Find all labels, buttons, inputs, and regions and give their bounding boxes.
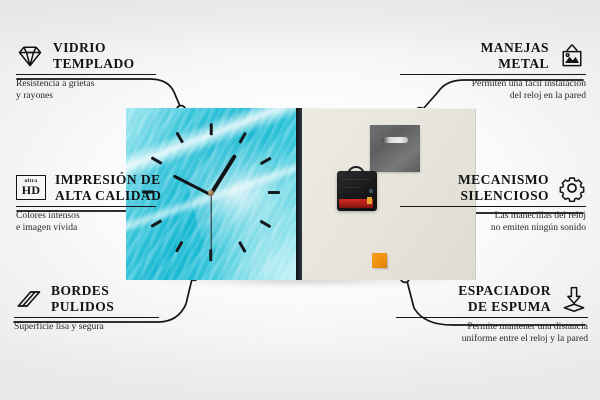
wall-mount-frame-icon bbox=[558, 42, 586, 70]
hanger-slot bbox=[382, 137, 408, 143]
clock-center-cap bbox=[208, 190, 214, 196]
callout-rule bbox=[16, 74, 156, 75]
callout-description: Las manecillas del reloj no emiten ningú… bbox=[400, 210, 586, 233]
callout-espaciador-de-espuma: ESPACIADOR DE ESPUMA Permite mantener un… bbox=[396, 283, 588, 345]
metal-hanger-plate bbox=[370, 125, 420, 172]
battery-positive-tip bbox=[367, 197, 372, 204]
callout-rule bbox=[14, 317, 159, 318]
callout-description: Colores intensos e imagen vívida bbox=[16, 210, 176, 233]
callout-rule bbox=[16, 206, 156, 207]
ultra-hd-big-label: HD bbox=[22, 184, 40, 196]
foam-spacer-icon bbox=[560, 285, 588, 313]
diamond-icon bbox=[16, 42, 44, 70]
infographic-stage: VIDRIO TEMPLADO Resistencia a grietas y … bbox=[0, 0, 600, 400]
callout-title: MANEJAS METAL bbox=[481, 40, 549, 71]
callout-mecanismo-silencioso: MECANISMO SILENCIOSO Las manecillas del … bbox=[400, 172, 586, 234]
callout-impresion-alta-calidad: ultra HD IMPRESIÓN DE ALTA CALIDAD Color… bbox=[16, 172, 176, 234]
callout-rule bbox=[396, 317, 588, 318]
mechanism-terminal bbox=[369, 189, 373, 193]
ultra-hd-icon: ultra HD bbox=[16, 175, 46, 200]
callout-title: VIDRIO TEMPLADO bbox=[53, 40, 135, 71]
mechanism-hanging-loop bbox=[347, 166, 365, 175]
callout-bordes-pulidos: BORDES PULIDOS Superficie lisa y segura bbox=[14, 283, 174, 333]
callout-vidrio-templado: VIDRIO TEMPLADO Resistencia a grietas y … bbox=[16, 40, 166, 102]
feather-highlight bbox=[187, 191, 296, 280]
callout-description: Permiten una fácil instalación del reloj… bbox=[400, 78, 586, 101]
mechanism-seam bbox=[342, 179, 370, 180]
callout-title: BORDES PULIDOS bbox=[51, 283, 114, 314]
clock-tick bbox=[268, 191, 280, 194]
polished-edges-icon bbox=[14, 285, 42, 313]
aa-battery bbox=[339, 199, 373, 208]
callout-description: Resistencia a grietas y rayones bbox=[16, 78, 166, 101]
mechanism-seam bbox=[342, 187, 362, 188]
clock-second-hand bbox=[210, 194, 211, 255]
callout-rule bbox=[400, 74, 586, 75]
clock-tick bbox=[210, 123, 213, 135]
callout-description: Permite mantener una distancia uniforme … bbox=[396, 321, 588, 344]
callout-rule bbox=[400, 206, 586, 207]
foam-spacer-pad bbox=[372, 253, 387, 268]
callout-title: IMPRESIÓN DE ALTA CALIDAD bbox=[55, 172, 161, 203]
clock-mechanism-module bbox=[337, 171, 377, 211]
callout-title: MECANISMO SILENCIOSO bbox=[458, 172, 549, 203]
gear-icon bbox=[558, 174, 586, 202]
callout-title: ESPACIADOR DE ESPUMA bbox=[458, 283, 551, 314]
callout-description: Superficie lisa y segura bbox=[14, 321, 174, 333]
callout-manejas-metal: MANEJAS METAL Permiten una fácil instala… bbox=[400, 40, 586, 102]
